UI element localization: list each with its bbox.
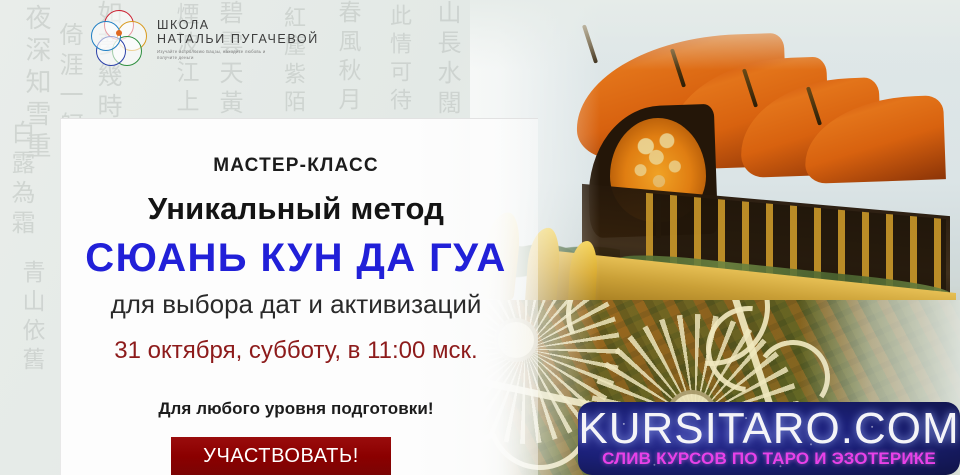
participate-button[interactable]: УЧАСТВОВАТЬ! bbox=[171, 437, 391, 475]
watermark-domain: KURSITARO.COM bbox=[578, 404, 960, 454]
headline-text: СЮАНЬ КУН ДА ГУА bbox=[61, 236, 531, 281]
watermark-tagline: СЛИВ КУРСОВ ПО ТАРО И ЭЗОТЕРИКЕ bbox=[578, 449, 960, 469]
five-petal-flower-icon bbox=[92, 10, 148, 66]
kicker-text: МАСТЕР-КЛАСС bbox=[61, 155, 531, 177]
level-note: Для любого уровня подготовки! bbox=[61, 399, 531, 419]
photo-top-fade bbox=[470, 0, 960, 70]
event-date: 31 октября, субботу, в 11:00 мск. bbox=[61, 337, 531, 365]
school-logo[interactable]: ШКОЛА НАТАЛЬИ ПУГАЧЕВОЙ Изучайте астроло… bbox=[92, 10, 319, 66]
logo-text-block: ШКОЛА НАТАЛЬИ ПУГАЧЕВОЙ Изучайте астроло… bbox=[157, 16, 319, 61]
logo-center-dot bbox=[116, 30, 122, 36]
tagline-text: для выбора дат и активизаций bbox=[61, 289, 531, 320]
logo-line-1: ШКОЛА bbox=[157, 18, 319, 32]
subtitle-text: Уникальный метод bbox=[61, 191, 531, 227]
logo-petal bbox=[91, 21, 121, 51]
logo-tagline: Изучайте астрологию Бацзы, находите любо… bbox=[157, 49, 275, 61]
logo-line-2: НАТАЛЬИ ПУГАЧЕВОЙ bbox=[157, 32, 319, 46]
content-card: МАСТЕР-КЛАСС Уникальный метод СЮАНЬ КУН … bbox=[60, 118, 538, 475]
kursitaro-watermark[interactable]: KURSITARO.COM СЛИВ КУРСОВ ПО ТАРО И ЭЗОТ… bbox=[578, 402, 960, 475]
promo-banner: 夜深知雪重倚涯一舸閒如夢幾時休煙波江上使人愁碧雲天黃葉地紅塵紫陌春風秋月此情可待… bbox=[0, 0, 960, 475]
